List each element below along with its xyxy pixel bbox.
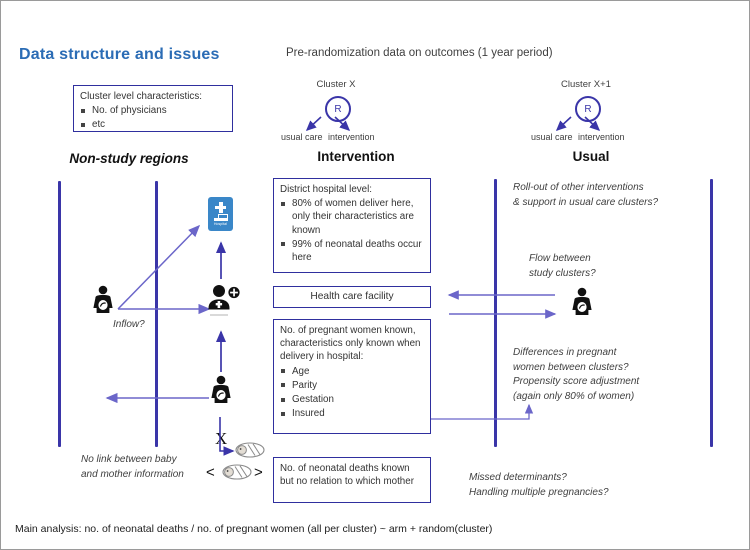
- cluster-x1-label: Cluster X+1: [541, 79, 631, 90]
- annotation-missed-line: Handling multiple pregnancies?: [469, 486, 609, 501]
- health-care-facility-box: Health care facility: [273, 286, 431, 308]
- district-hospital-box: District hospital level: 80% of women de…: [273, 178, 431, 273]
- annotation-flow-line: Flow between: [529, 252, 596, 267]
- cluster-x-arm-intervention: intervention: [328, 132, 375, 142]
- cluster-x-label: Cluster X: [291, 79, 381, 90]
- annotation-rollout: Roll-out of other interventions & suppor…: [513, 181, 658, 210]
- pregnant-women-item: Insured: [280, 407, 424, 420]
- health-care-facility-label: Health care facility: [310, 290, 393, 304]
- health-worker-shadow: [210, 314, 228, 316]
- inflow-arrows: [101, 193, 281, 318]
- cluster-level-item: etc: [80, 118, 226, 131]
- cluster-level-item: No. of physicians: [80, 104, 226, 117]
- baby-icon-linked: [235, 442, 265, 458]
- health-worker-icon: [205, 283, 241, 311]
- baby-icon-unlinked: [222, 464, 252, 480]
- arrow-worker-to-hospital: [214, 237, 228, 281]
- annotation-no-link-line: No link between baby: [81, 453, 184, 468]
- annotation-no-link: No link between baby and mother informat…: [81, 453, 184, 482]
- neonatal-deaths-box: No. of neonatal deaths known but no rela…: [273, 457, 431, 503]
- pregnant-women-item: Age: [280, 365, 424, 378]
- arrow-outflow-left: [101, 391, 213, 405]
- cluster-x1-arm-usual-care: usual care: [531, 132, 573, 142]
- annotation-differences-line: Differences in pregnant: [513, 346, 639, 361]
- pregnant-women-item: Gestation: [280, 393, 424, 406]
- pregnant-women-item: Parity: [280, 379, 424, 392]
- pregnant-women-heading: No. of pregnant women known, characteris…: [280, 324, 424, 364]
- annotation-flow-line: study clusters?: [529, 267, 596, 282]
- district-hospital-item: 80% of women deliver here, only their ch…: [280, 197, 424, 237]
- neonatal-deaths-text: No. of neonatal deaths known but no rela…: [280, 462, 424, 488]
- pregnant-woman-icon-right: [568, 287, 596, 317]
- annotation-missed-line: Missed determinants?: [469, 471, 609, 486]
- connector-box-to-differences: [429, 399, 569, 423]
- footnote-main-analysis: Main analysis: no. of neonatal deaths / …: [15, 523, 492, 535]
- cluster-x1-arm-intervention: intervention: [578, 132, 625, 142]
- district-hospital-item: 99% of neonatal deaths occur here: [280, 238, 424, 264]
- annotation-missed-determinants: Missed determinants? Handling multiple p…: [469, 471, 609, 500]
- column-heading-intervention: Intervention: [266, 149, 446, 164]
- arrow-mother-to-worker: [214, 326, 228, 374]
- district-hospital-heading: District hospital level:: [280, 183, 424, 196]
- region-divider-line-4: [710, 179, 713, 447]
- column-heading-usual: Usual: [501, 149, 681, 164]
- annotation-differences-line: women between clusters?: [513, 361, 639, 376]
- page-title: Data structure and issues: [19, 46, 220, 64]
- slide-canvas: Data structure and issues Pre-randomizat…: [0, 0, 750, 550]
- cluster-x-arm-usual-care: usual care: [281, 132, 323, 142]
- annotation-rollout-line: Roll-out of other interventions: [513, 181, 658, 196]
- bracket-left: <: [206, 464, 215, 481]
- annotation-flow-between: Flow between study clusters?: [529, 252, 596, 281]
- subheading: Pre-randomization data on outcomes (1 ye…: [286, 47, 553, 59]
- annotation-no-link-line: and mother information: [81, 468, 184, 483]
- pregnant-women-box: No. of pregnant women known, characteris…: [273, 319, 431, 434]
- column-heading-non-study-regions: Non-study regions: [39, 151, 219, 166]
- arrows-cluster-flow: [443, 287, 561, 323]
- annotation-rollout-line: & support in usual care clusters?: [513, 196, 658, 211]
- cluster-level-heading: Cluster level characteristics:: [80, 90, 226, 103]
- annotation-differences: Differences in pregnant women between cl…: [513, 346, 639, 404]
- region-divider-line-1: [58, 181, 61, 447]
- bracket-right: >: [254, 464, 263, 481]
- annotation-differences-line: Propensity score adjustment: [513, 375, 639, 390]
- annotation-inflow: Inflow?: [113, 318, 145, 333]
- cluster-level-characteristics-box: Cluster level characteristics: No. of ph…: [73, 85, 233, 132]
